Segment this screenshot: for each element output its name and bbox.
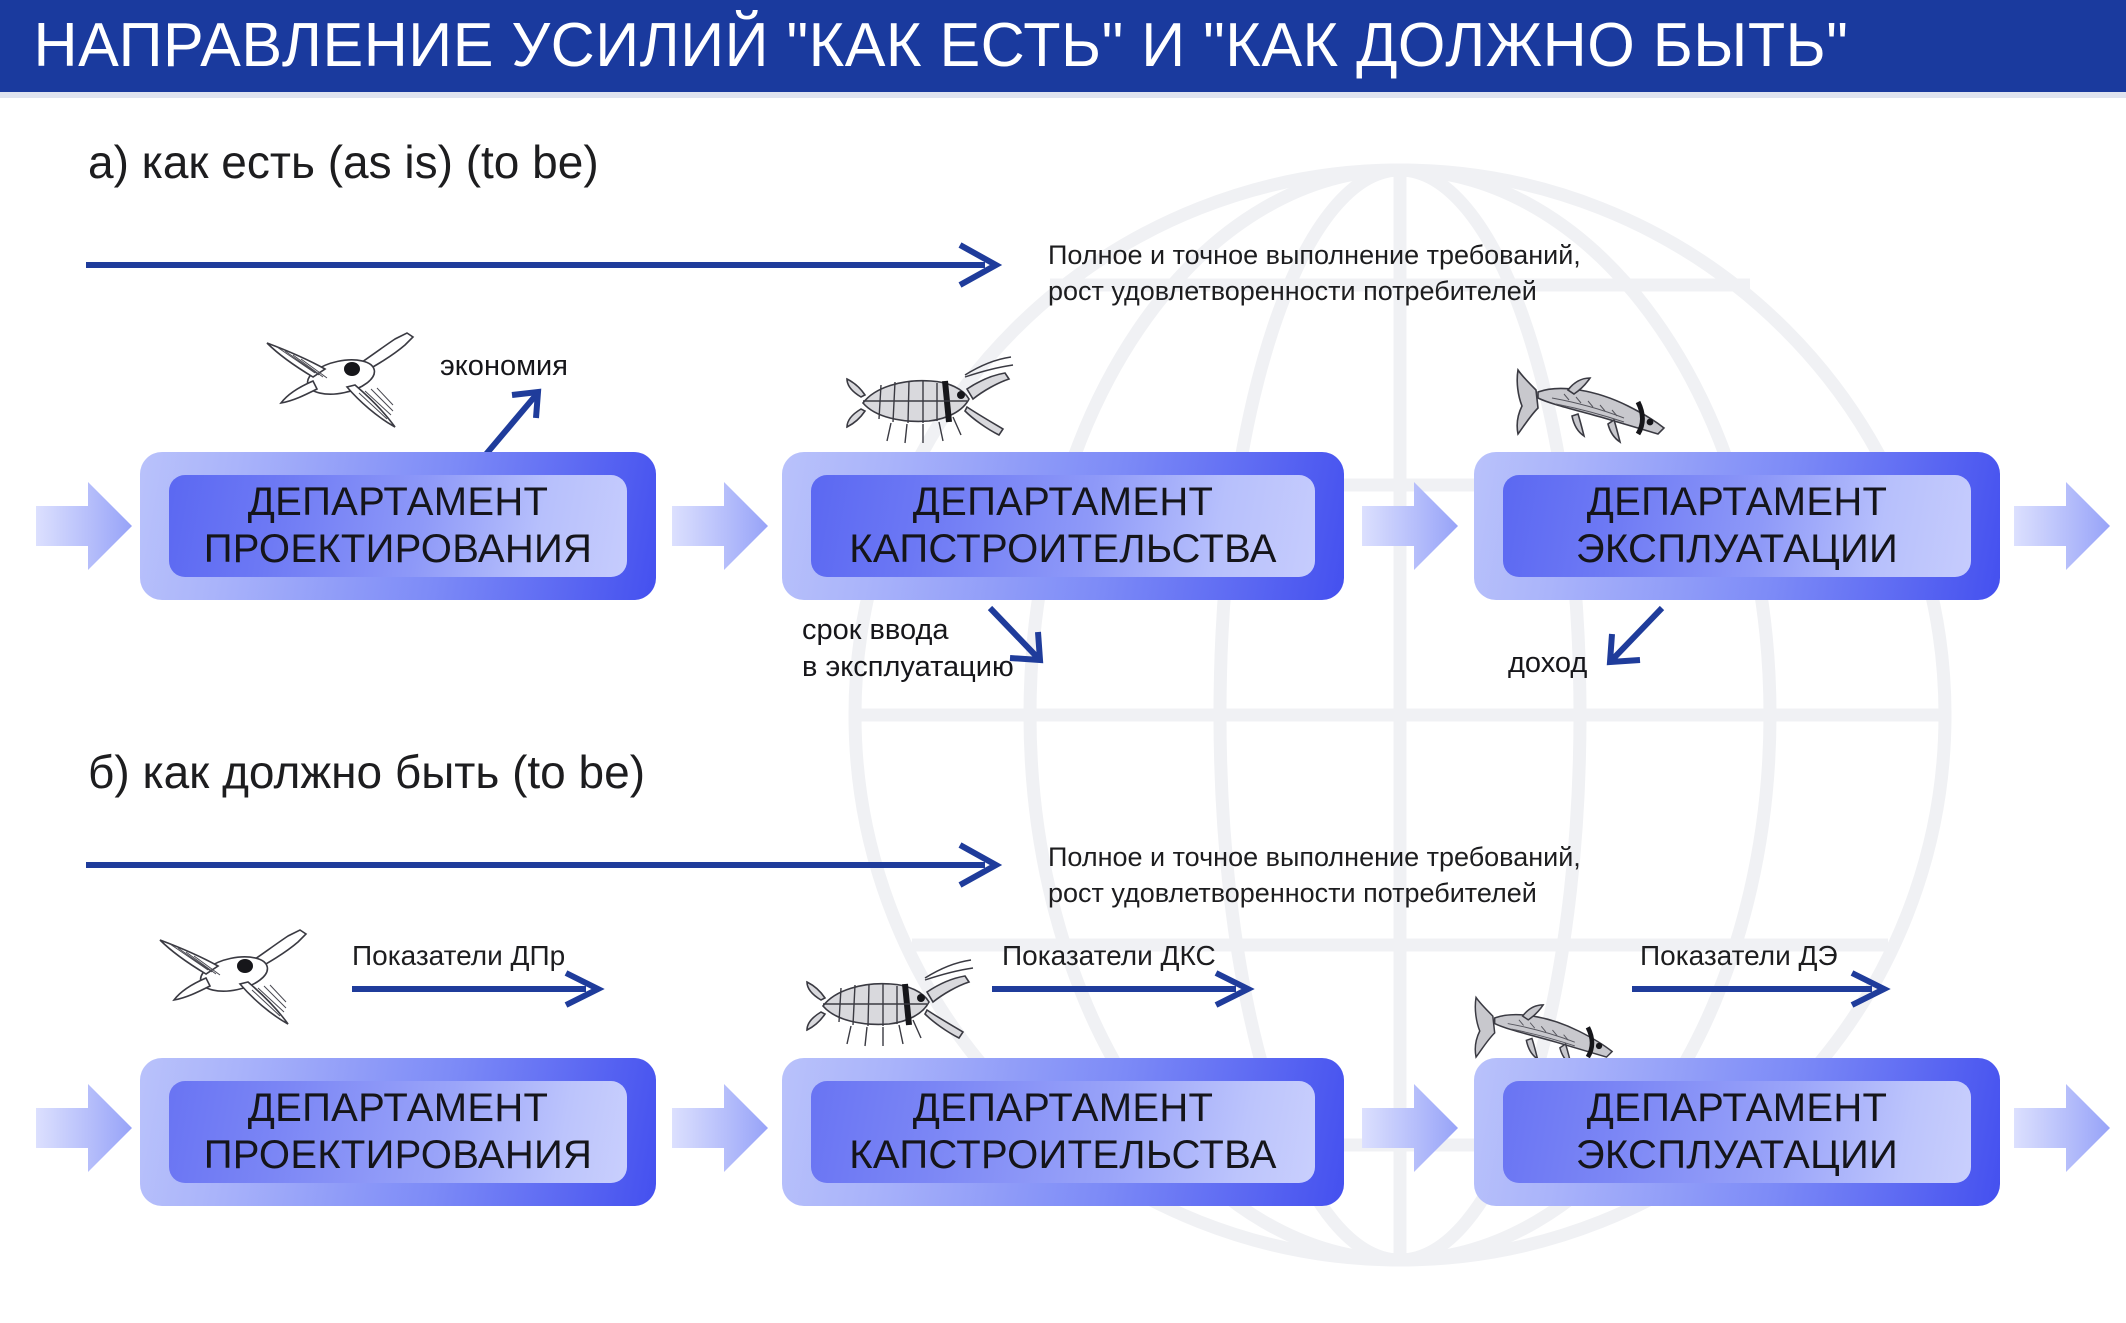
page-title: НАПРАВЛЕНИЕ УСИЛИЙ "КАК ЕСТЬ" И "КАК ДОЛ… — [0, 15, 1848, 77]
callout-income-arrow-down-icon — [1600, 600, 1674, 672]
kpi-arrow-operation-icon — [1628, 968, 1898, 1010]
department-line-1: ДЕПАРТАМЕНТ — [1587, 479, 1888, 526]
callout-income-label: доход — [1508, 645, 1587, 682]
flow-block-arrow — [1362, 478, 1460, 574]
department-box-inner: ДЕПАРТАМЕНТ ПРОЕКТИРОВАНИЯ — [169, 1081, 627, 1183]
department-line-2: ЭКСПЛУАТАЦИИ — [1576, 1132, 1898, 1179]
pike-icon — [1512, 362, 1672, 450]
department-box-operation-b[interactable]: ДЕПАРТАМЕНТ ЭКСПЛУАТАЦИИ — [1474, 1058, 2000, 1206]
flow-block-arrow — [2014, 478, 2112, 574]
department-line-2: ПРОЕКТИРОВАНИЯ — [204, 1132, 593, 1179]
kpi-arrow-design-icon — [348, 968, 613, 1010]
department-box-inner: ДЕПАРТАМЕНТ ЭКСПЛУАТАЦИИ — [1503, 475, 1971, 577]
department-box-capconstruction-b[interactable]: ДЕПАРТАМЕНТ КАПСТРОИТЕЛЬСТВА — [782, 1058, 1344, 1206]
section-b-heading: б) как должно быть (to be) — [88, 745, 645, 799]
section-a-outcome-note: Полное и точное выполнение требований, р… — [1048, 238, 1581, 310]
slide-title-bar: НАПРАВЛЕНИЕ УСИЛИЙ "КАК ЕСТЬ" И "КАК ДОЛ… — [0, 0, 2126, 92]
department-box-inner: ДЕПАРТАМЕНТ ПРОЕКТИРОВАНИЯ — [169, 475, 627, 577]
department-line-1: ДЕПАРТАМЕНТ — [913, 1085, 1214, 1132]
flow-block-arrow — [2014, 1080, 2112, 1176]
department-box-inner: ДЕПАРТАМЕНТ ЭКСПЛУАТАЦИИ — [1503, 1081, 1971, 1183]
department-box-capconstruction-a[interactable]: ДЕПАРТАМЕНТ КАПСТРОИТЕЛЬСТВА — [782, 452, 1344, 600]
department-box-design-a[interactable]: ДЕПАРТАМЕНТ ПРОЕКТИРОВАНИЯ — [140, 452, 656, 600]
flow-block-arrow — [36, 1080, 134, 1176]
crayfish-icon — [805, 948, 975, 1053]
callout-commissioning-arrow-down-icon — [980, 600, 1050, 670]
kpi-arrow-capconstruction-icon — [988, 968, 1263, 1010]
department-line-1: ДЕПАРТАМЕНТ — [1587, 1085, 1888, 1132]
section-a-flow-arrow — [80, 240, 1020, 290]
crayfish-icon — [845, 345, 1015, 450]
department-line-2: КАПСТРОИТЕЛЬСТВА — [849, 526, 1277, 573]
department-line-1: ДЕПАРТАМЕНТ — [248, 1085, 549, 1132]
flow-block-arrow — [36, 478, 134, 574]
callout-economy-label: экономия — [440, 348, 568, 385]
department-line-2: ЭКСПЛУАТАЦИИ — [1576, 526, 1898, 573]
department-line-2: КАПСТРОИТЕЛЬСТВА — [849, 1132, 1277, 1179]
department-box-inner: ДЕПАРТАМЕНТ КАПСТРОИТЕЛЬСТВА — [811, 1081, 1315, 1183]
section-a-heading: а) как есть (as is) (to be) — [88, 135, 599, 189]
flow-block-arrow — [1362, 1080, 1460, 1176]
flow-block-arrow — [672, 1080, 770, 1176]
title-underline — [0, 92, 2126, 98]
department-line-1: ДЕПАРТАМЕНТ — [248, 479, 549, 526]
department-box-operation-a[interactable]: ДЕПАРТАМЕНТ ЭКСПЛУАТАЦИИ — [1474, 452, 2000, 600]
section-b-outcome-note: Полное и точное выполнение требований, р… — [1048, 840, 1581, 912]
department-box-inner: ДЕПАРТАМЕНТ КАПСТРОИТЕЛЬСТВА — [811, 475, 1315, 577]
section-b-flow-arrow — [80, 840, 1020, 890]
department-box-design-b[interactable]: ДЕПАРТАМЕНТ ПРОЕКТИРОВАНИЯ — [140, 1058, 656, 1206]
swan-icon — [255, 315, 440, 440]
swan-icon — [148, 912, 333, 1037]
department-line-2: ПРОЕКТИРОВАНИЯ — [204, 526, 593, 573]
flow-block-arrow — [672, 478, 770, 574]
slide-canvas: НАПРАВЛЕНИЕ УСИЛИЙ "КАК ЕСТЬ" И "КАК ДОЛ… — [0, 0, 2126, 1323]
department-line-1: ДЕПАРТАМЕНТ — [913, 479, 1214, 526]
